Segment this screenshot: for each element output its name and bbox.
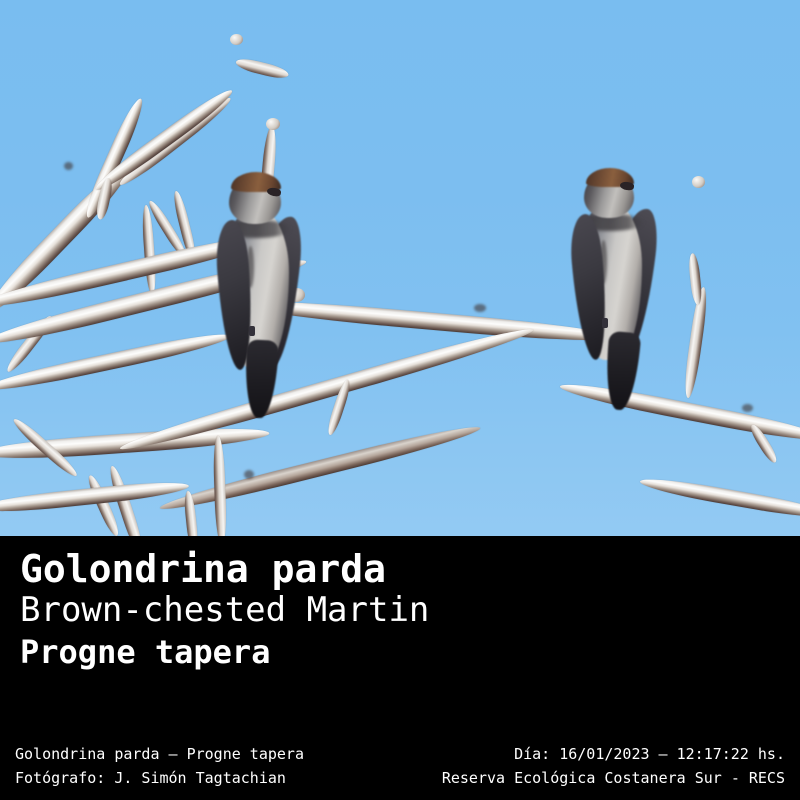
right-bird-tail [603,331,642,411]
common-name-spanish: Golondrina parda [20,548,386,590]
right-bird [562,170,672,410]
bird-photograph [0,0,800,536]
footer-datetime-line: Día: 16/01/2023 — 12:17:22 hs. [514,742,785,766]
branch-blot-right [742,404,753,412]
left-bird-tail [243,339,279,419]
footer-left-column: Golondrina parda — Progne tapera Fotógra… [15,742,304,790]
footer-location-line: Reserva Ecológica Costanera Sur - RECS [442,766,785,790]
footer-right-column: Día: 16/01/2023 — 12:17:22 hs. Reserva E… [442,742,785,790]
branch-knob-upper-a [230,34,243,45]
left-bird-foot [249,326,255,336]
footer-species-line: Golondrina parda — Progne tapera [15,742,304,766]
branch-knob-right-tip [692,176,705,188]
bird-photo-card: Golondrina parda Brown-chested Martin Pr… [0,0,800,800]
common-name-english: Brown-chested Martin [20,591,429,629]
branch-blot-mid-a [474,304,486,312]
scientific-name: Progne tapera [20,634,270,670]
footer-photographer-line: Fotógrafo: J. Simón Tagtachian [15,766,304,790]
footer: Golondrina parda — Progne tapera Fotógra… [0,742,800,790]
right-bird-foot [602,318,608,328]
branch-knob-left-bird [266,118,280,130]
branch-blot-upper-a [64,162,73,170]
branch-blot-centre [244,470,254,479]
left-bird [205,168,315,418]
